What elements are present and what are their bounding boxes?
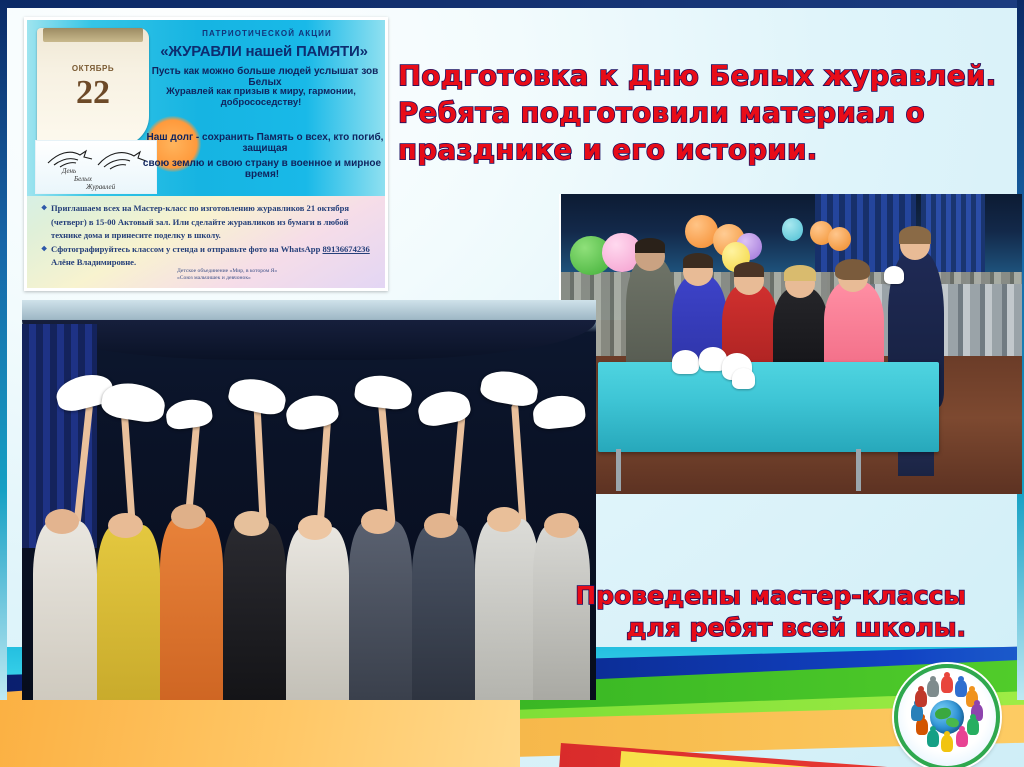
student-hair-2 bbox=[683, 253, 713, 268]
child-orange-shirt bbox=[160, 517, 223, 700]
calendar-binding-decor bbox=[43, 28, 143, 42]
paper-crane-4 bbox=[732, 368, 755, 389]
poster-bullet-2: Сфотографируйтесь классом у стенда и отп… bbox=[41, 243, 373, 270]
poster-footer: Детское объединение «Мир, в котором Я» «… bbox=[177, 268, 373, 283]
poster-line-4: свою землю и свою страну в военное и мир… bbox=[139, 158, 385, 180]
poster-bullet-1: Приглашаем всех на Мастер-класс по изгот… bbox=[41, 202, 373, 243]
paper-crane-held bbox=[884, 266, 905, 284]
table-leg-right bbox=[856, 449, 861, 491]
slide-caption-line-1: Проведены мастер-классы bbox=[546, 580, 966, 612]
emblem-figure-6 bbox=[956, 730, 968, 747]
announcement-poster: ОКТЯБРЬ 22 День Белых Журавлей ПАТРИО bbox=[24, 17, 388, 291]
child-black-shirt bbox=[223, 523, 286, 700]
student-hair-1 bbox=[635, 238, 665, 253]
emblem-figure-5 bbox=[967, 718, 979, 735]
student-hair-4 bbox=[784, 265, 816, 282]
child-head-f bbox=[361, 509, 395, 534]
table-leg-left bbox=[616, 449, 621, 491]
top-border-decor bbox=[0, 0, 1024, 8]
child-white-blouse bbox=[286, 527, 349, 700]
children-around-globe-emblem bbox=[894, 664, 1000, 767]
child-light-jacket bbox=[475, 519, 538, 700]
slide-canvas: ОКТЯБРЬ 22 День Белых Журавлей ПАТРИО bbox=[0, 0, 1024, 767]
crane-logo-caption: День Белых Журавлей bbox=[62, 167, 115, 191]
poster-footer-line-1: Детское объединение «Мир, в котором Я» bbox=[177, 268, 373, 275]
student-hair-5 bbox=[835, 259, 870, 280]
slide-caption: Проведены мастер-классы для ребят всей ш… bbox=[546, 580, 966, 644]
calendar-month-label: ОКТЯБРЬ bbox=[37, 64, 149, 73]
photo-students-at-table-content bbox=[561, 194, 1022, 494]
slide-title: Подготовка к Дню Белых журавлей. Ребята … bbox=[398, 58, 1023, 169]
slide-title-line-1: Подготовка к Дню Белых журавлей. bbox=[398, 58, 1023, 95]
child-grey-pinafore bbox=[349, 521, 412, 700]
child-head-b bbox=[108, 513, 142, 538]
child-head-g bbox=[424, 513, 458, 538]
paper-crane-1 bbox=[672, 350, 700, 374]
child-head-i bbox=[544, 513, 578, 538]
poster-kicker: ПАТРИОТИЧЕСКОЙ АКЦИИ bbox=[155, 29, 379, 38]
poster-bullet-2-suffix: Алёне Владимировне. bbox=[51, 257, 136, 267]
poster-line-1: Пусть как можно больше людей услышат зов… bbox=[145, 66, 385, 88]
poster-line-2: Журавлей как призыв к миру, гармонии, до… bbox=[137, 86, 385, 108]
child-head-a bbox=[45, 509, 79, 534]
child-dark-pinafore bbox=[412, 525, 475, 700]
student-hair-3 bbox=[734, 262, 764, 277]
blue-table bbox=[598, 362, 939, 452]
emblem-figure-8 bbox=[927, 730, 939, 747]
poster-bullet-2-text: Сфотографируйтесь классом у стенда и отп… bbox=[51, 244, 323, 254]
emblem-figure-12 bbox=[927, 680, 939, 697]
calendar-icon: ОКТЯБРЬ 22 bbox=[37, 28, 149, 146]
calendar-day-number: 22 bbox=[37, 74, 149, 112]
emblem-figure-11 bbox=[915, 690, 927, 707]
child-head-d bbox=[234, 511, 268, 536]
child-yellow-shirt bbox=[97, 525, 160, 700]
poster-title: «ЖУРАВЛИ нашей ПАМЯТИ» bbox=[145, 43, 383, 60]
slide-caption-line-2: для ребят всей школы. bbox=[546, 612, 966, 644]
emblem-figure-2 bbox=[955, 680, 967, 697]
poster-line-3: Наш долг - сохранить Память о всех, кто … bbox=[145, 132, 385, 154]
left-border-decor bbox=[0, 0, 7, 700]
student-hair-6 bbox=[899, 226, 931, 244]
balloon-teal bbox=[782, 218, 803, 241]
poster-phone-number: 89136674236 bbox=[323, 244, 370, 254]
photo-children-with-cranes-content bbox=[22, 300, 596, 700]
emblem-figure-1 bbox=[941, 676, 953, 693]
photo-students-at-table bbox=[559, 194, 1022, 494]
poster-body: Приглашаем всех на Мастер-класс по изгот… bbox=[41, 202, 373, 270]
poster-footer-line-2: «Союз мальчишек и девчонок» bbox=[177, 275, 373, 282]
student-grey-sweater bbox=[626, 257, 677, 377]
slide-title-line-2: Ребята подготовили материал о bbox=[398, 95, 1023, 132]
emblem-figure-7 bbox=[941, 735, 953, 752]
slide-title-line-3: празднике и его истории. bbox=[398, 132, 1023, 169]
photo-children-with-cranes bbox=[22, 300, 596, 700]
child-head-e bbox=[298, 515, 332, 540]
child-head-h bbox=[487, 507, 521, 532]
children-row-decor bbox=[22, 492, 596, 700]
child-white-jacket bbox=[33, 521, 96, 700]
